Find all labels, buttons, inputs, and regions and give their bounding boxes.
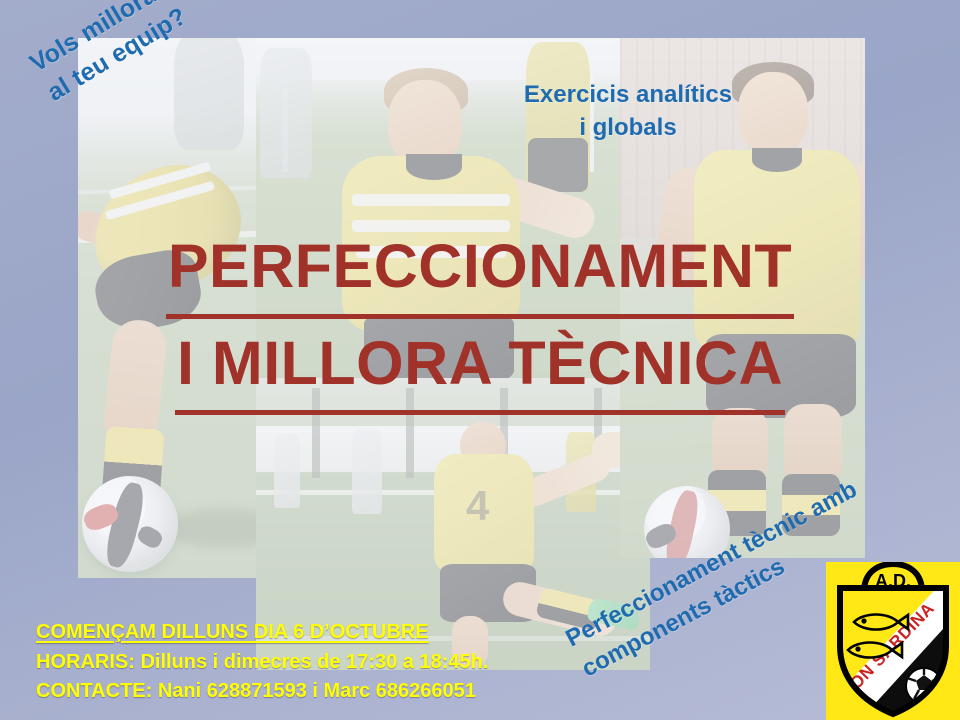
info-contact: CONTACTE: Nani 628871593 i Marc 68626605… — [36, 677, 756, 706]
info-schedule: HORARIS: Dilluns i dimecres de 17:30 a 1… — [36, 648, 756, 677]
info-block: COMENÇAM DILLUNS DIA 6 D’OCTUBRE HORARIS… — [36, 618, 756, 706]
shirt-collar — [752, 148, 802, 172]
soccer-ball-icon — [82, 476, 178, 572]
background-player — [274, 434, 300, 508]
shirt-number: 4 — [466, 482, 489, 530]
callout-top-right-line2: i globals — [468, 111, 788, 144]
page-title: PERFECCIONAMENT I MILLORA TÈCNICA — [0, 222, 960, 415]
background-player — [352, 430, 382, 514]
shirt-stripe — [352, 194, 510, 206]
page-title-line2: I MILLORA TÈCNICA — [0, 319, 960, 416]
callout-top-right-line1: Exercicis analítics — [468, 78, 788, 111]
poster-canvas: 4 Vols mi — [0, 0, 960, 720]
page-title-line1: PERFECCIONAMENT — [0, 222, 960, 319]
background-player — [174, 38, 244, 150]
crest-svg: A.D. SON SARDINA — [826, 562, 960, 720]
callout-top-right: Exercicis analítics i globals — [468, 78, 788, 144]
info-start-date: COMENÇAM DILLUNS DIA 6 D’OCTUBRE — [36, 618, 756, 647]
background-player — [260, 48, 312, 178]
shirt-collar — [406, 154, 462, 180]
club-crest-logo: A.D. SON SARDINA — [826, 562, 960, 720]
